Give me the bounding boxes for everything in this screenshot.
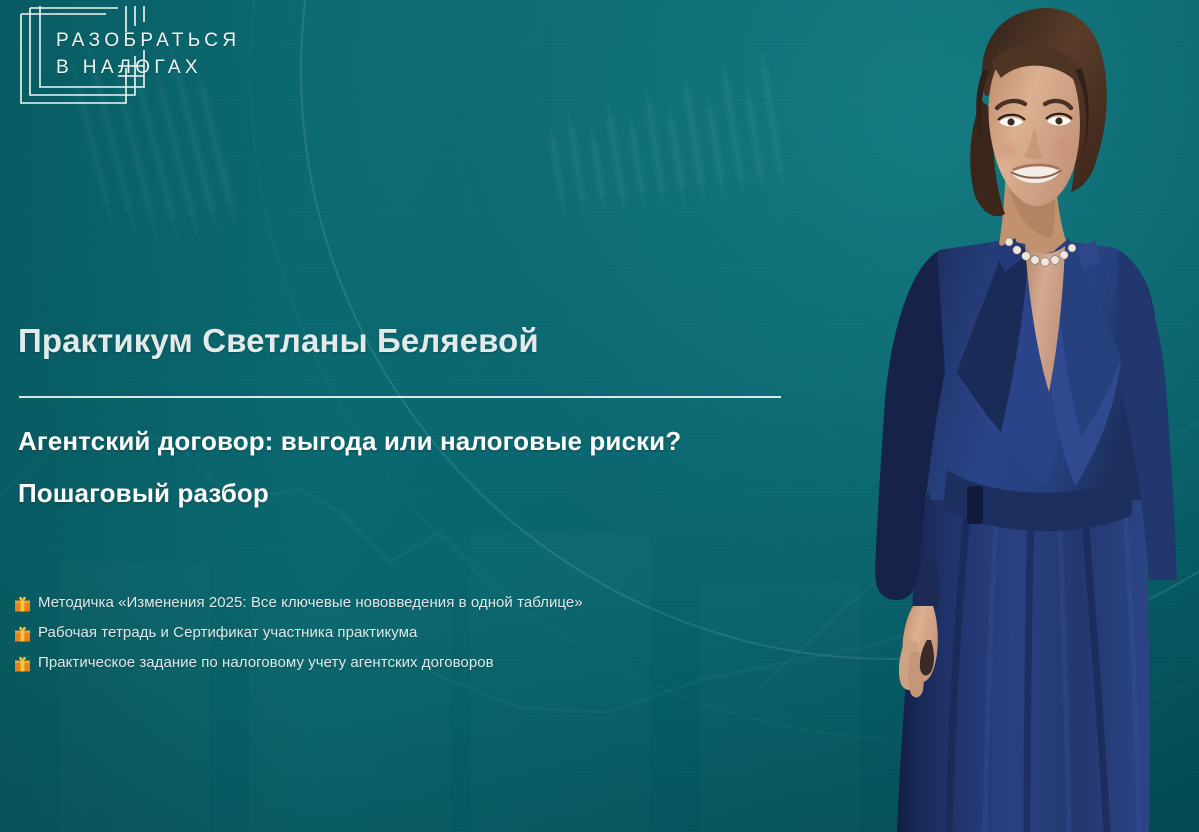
hero-copy: Практикум Светланы Беляевой Агентский до… [18, 320, 818, 510]
list-item-label: Методичка «Изменения 2025: Все ключевые … [38, 592, 583, 614]
title-divider [19, 396, 781, 398]
list-item-label: Практическое задание по налоговому учету… [38, 652, 494, 674]
gift-icon [14, 595, 31, 612]
hero-subtitle-primary: Агентский договор: выгода или налоговые … [18, 424, 818, 458]
gift-icon [14, 655, 31, 672]
perks-list: Методичка «Изменения 2025: Все ключевые … [14, 592, 583, 682]
gift-icon [14, 625, 31, 642]
hero-subtitle-secondary: Пошаговый разбор [18, 476, 818, 510]
brand-line-1: РАЗОБРАТЬСЯ [56, 27, 240, 54]
speaker-portrait [819, 0, 1199, 832]
list-item: Рабочая тетрадь и Сертификат участника п… [14, 622, 583, 644]
list-item: Методичка «Изменения 2025: Все ключевые … [14, 592, 583, 614]
list-item: Практическое задание по налоговому учету… [14, 652, 583, 674]
webinar-promo-banner: РАЗОБРАТЬСЯ В НАЛОГАХ Практикум Светланы… [0, 0, 1199, 832]
brand-line-2: В НАЛОГАХ [56, 54, 240, 81]
page-title: Практикум Светланы Беляевой [18, 320, 818, 362]
list-item-label: Рабочая тетрадь и Сертификат участника п… [38, 622, 417, 644]
brand-logo[interactable]: РАЗОБРАТЬСЯ В НАЛОГАХ [18, 6, 258, 110]
brand-wordmark: РАЗОБРАТЬСЯ В НАЛОГАХ [56, 27, 240, 81]
